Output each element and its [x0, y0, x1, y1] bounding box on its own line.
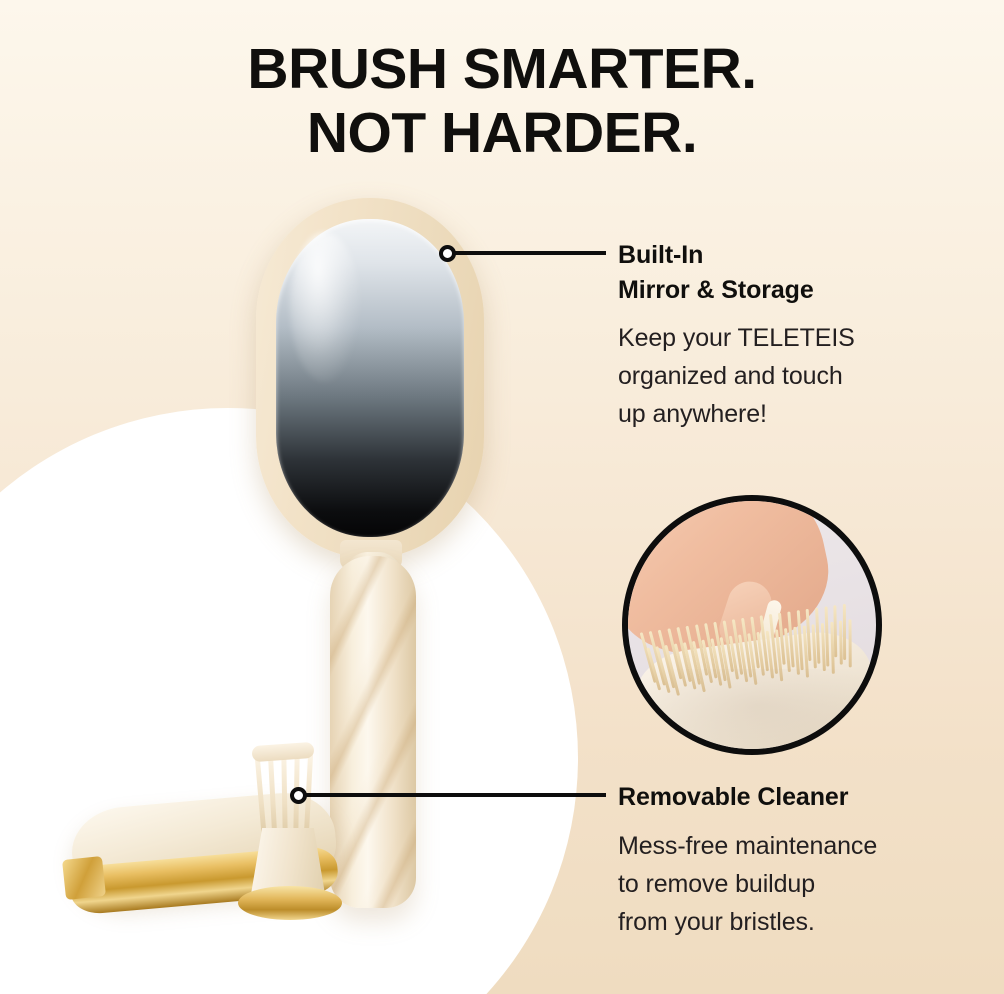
mirror-highlight — [290, 232, 360, 382]
callout-body-removable-cleaner: Mess-free maintenance to remove buildup … — [618, 827, 928, 941]
callout-text-removable-cleaner: Removable Cleaner Mess-free maintenance … — [618, 780, 928, 941]
callout-body-mirror-storage: Keep your TELETEIS organized and touch u… — [618, 319, 928, 433]
infographic-canvas: BRUSH SMARTER. NOT HARDER. Built-In Mirr… — [0, 0, 1004, 994]
headline-line-2: NOT HARDER. — [0, 102, 1004, 166]
callout-body-line-2: organized and touch — [618, 362, 843, 390]
headline-line-1: BRUSH SMARTER. — [0, 38, 1004, 102]
callout-title-removable-cleaner: Removable Cleaner — [618, 780, 928, 815]
callout-title-line-2: Mirror & Storage — [618, 276, 814, 304]
white-circle-backdrop — [0, 408, 578, 994]
callout-body-line-3: up anywhere! — [618, 400, 767, 428]
callout-body-line-1: Mess-free maintenance — [618, 832, 877, 860]
page-title: BRUSH SMARTER. NOT HARDER. — [0, 38, 1004, 166]
inset-photo-cleaner-in-use — [622, 495, 882, 755]
callout-text-mirror-storage: Built-In Mirror & Storage Keep your TELE… — [618, 238, 928, 433]
callout-title-mirror-storage: Built-In Mirror & Storage — [618, 238, 928, 307]
callout-body-line-2: to remove buildup — [618, 870, 815, 898]
callout-line-removable-cleaner — [305, 793, 606, 797]
inset-shadow — [628, 669, 882, 755]
callout-title-line-1: Built-In — [618, 241, 703, 269]
callout-line-mirror-storage — [454, 251, 606, 255]
callout-body-line-1: Keep your TELETEIS — [618, 324, 855, 352]
callout-body-line-3: from your bristles. — [618, 908, 815, 936]
